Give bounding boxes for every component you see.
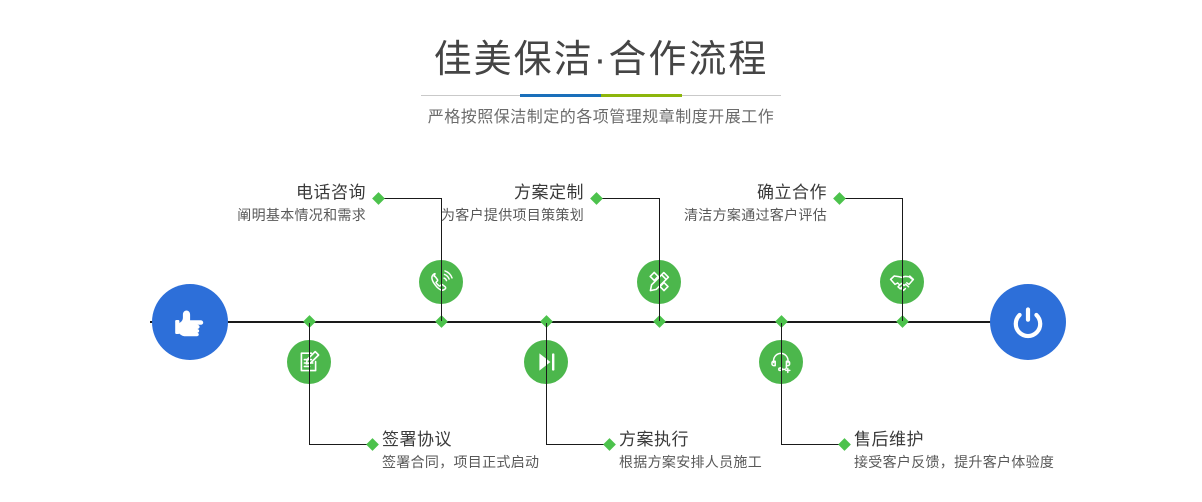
timeline-start-node bbox=[152, 284, 228, 360]
connector-horizontal bbox=[839, 198, 902, 199]
connector-horizontal bbox=[781, 444, 844, 445]
connector-horizontal bbox=[546, 444, 609, 445]
connector-vertical bbox=[781, 323, 782, 445]
step-label-step-1: 电话咨询 阐明基本情况和需求 bbox=[120, 182, 366, 226]
step-label-step-3: 方案定制 为客户提供项目策策划 bbox=[338, 182, 584, 226]
step-desc: 阐明基本情况和需求 bbox=[120, 204, 366, 226]
step-title: 电话咨询 bbox=[120, 182, 366, 204]
connector-vertical bbox=[902, 198, 903, 321]
label-marker bbox=[833, 192, 846, 205]
connector-vertical bbox=[309, 323, 310, 445]
step-desc: 清洁方案通过客户评估 bbox=[581, 204, 827, 226]
step-desc: 接受客户反馈，提升客户体验度 bbox=[854, 451, 1154, 473]
page-title: 佳美保洁·合作流程 bbox=[0, 36, 1202, 84]
connector-vertical bbox=[546, 323, 547, 445]
page-subtitle: 严格按照保洁制定的各项管理规章制度开展工作 bbox=[0, 106, 1202, 130]
process-flow-infographic: 佳美保洁·合作流程 严格按照保洁制定的各项管理规章制度开展工作 bbox=[0, 0, 1202, 502]
connector-horizontal bbox=[309, 444, 372, 445]
step-title: 售后维护 bbox=[854, 429, 1154, 451]
step-label-step-6: 售后维护 接受客户反馈，提升客户体验度 bbox=[854, 429, 1154, 473]
step-label-step-5: 确立合作 清洁方案通过客户评估 bbox=[581, 182, 827, 226]
divider-segment-blue bbox=[520, 94, 601, 97]
title-divider bbox=[421, 94, 781, 97]
label-marker bbox=[366, 438, 379, 451]
step-title: 方案定制 bbox=[338, 182, 584, 204]
timeline-axis bbox=[150, 321, 1052, 323]
divider-segment-green bbox=[601, 94, 682, 97]
step-desc: 为客户提供项目策策划 bbox=[338, 204, 584, 226]
power-icon bbox=[1005, 299, 1051, 345]
timeline-end-node bbox=[990, 284, 1066, 360]
hand-pointing-right-icon bbox=[167, 299, 213, 345]
step-title: 确立合作 bbox=[581, 182, 827, 204]
